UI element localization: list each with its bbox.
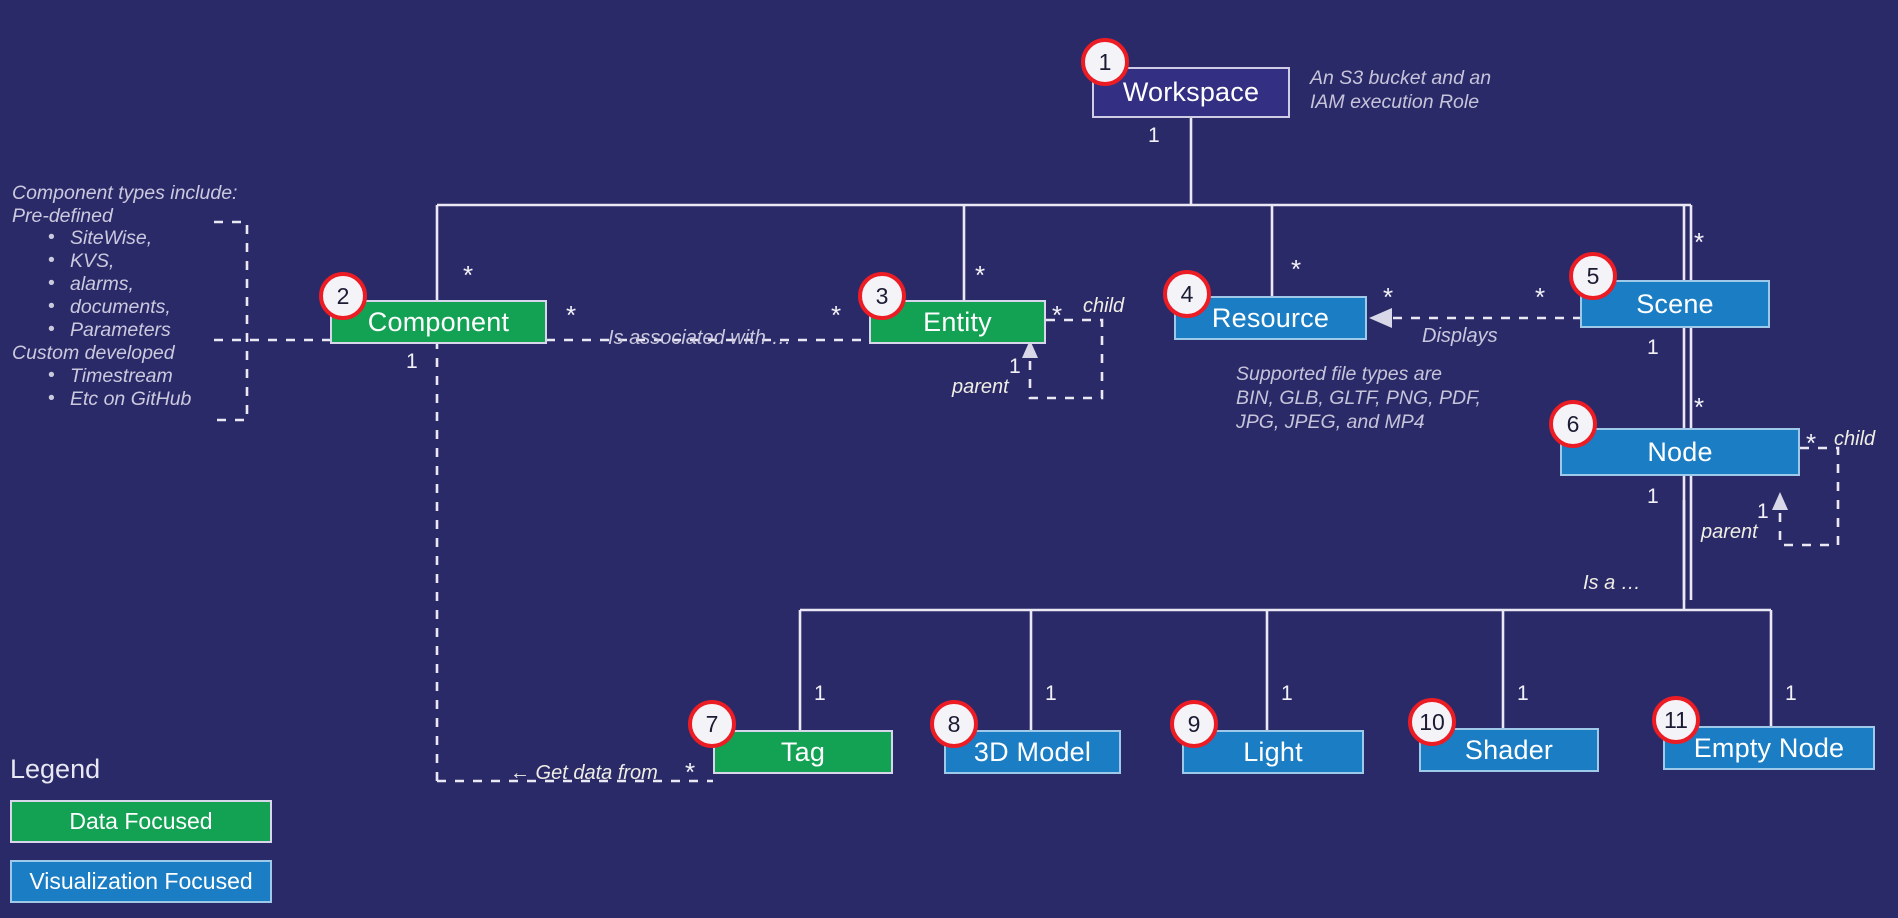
badge-10-label: 10 bbox=[1419, 709, 1445, 736]
mult-entity-parent: 1 bbox=[1009, 355, 1021, 379]
label-node-child: child bbox=[1834, 428, 1875, 451]
badge-4-label: 4 bbox=[1181, 281, 1194, 308]
node-tag-label: Tag bbox=[781, 737, 825, 768]
mult-tag-up: 1 bbox=[814, 682, 826, 706]
node-node-label: Node bbox=[1647, 437, 1712, 468]
badge-1[interactable]: 1 bbox=[1081, 38, 1129, 86]
mult-resource-up: * bbox=[1291, 262, 1301, 276]
badge-9[interactable]: 9 bbox=[1170, 700, 1218, 748]
mult-tag-getdata: * bbox=[685, 765, 695, 779]
badge-3[interactable]: 3 bbox=[858, 272, 906, 320]
mult-resource-displays-in: * bbox=[1383, 290, 1393, 304]
badge-3-label: 3 bbox=[876, 283, 889, 310]
note-component-predefined-item: KVS, bbox=[70, 250, 237, 273]
note-component-predefined-item: documents, bbox=[70, 296, 237, 319]
mult-component-down: 1 bbox=[406, 350, 418, 374]
label-is-associated-with: Is associated with … bbox=[608, 327, 791, 350]
node-3d-model-label: 3D Model bbox=[974, 737, 1091, 768]
node-empty-node-label: Empty Node bbox=[1694, 733, 1845, 764]
mult-node-up: * bbox=[1694, 400, 1704, 414]
note-component-heading1: Component types include: bbox=[12, 182, 237, 205]
note-component-predefined-list: SiteWise, KVS, alarms, documents, Parame… bbox=[12, 227, 237, 342]
node-tag[interactable]: Tag bbox=[713, 730, 893, 774]
mult-entity-up: * bbox=[975, 268, 985, 282]
node-entity-label: Entity bbox=[923, 307, 992, 338]
note-component-heading3: Custom developed bbox=[12, 342, 237, 365]
mult-light-up: 1 bbox=[1281, 682, 1293, 706]
badge-9-label: 9 bbox=[1188, 711, 1201, 738]
label-displays: Displays bbox=[1422, 325, 1498, 348]
mult-empty-up: 1 bbox=[1785, 682, 1797, 706]
badge-2[interactable]: 2 bbox=[319, 272, 367, 320]
mult-scene-displays-out: * bbox=[1535, 290, 1545, 304]
node-workspace-label: Workspace bbox=[1123, 77, 1259, 108]
badge-1-label: 1 bbox=[1099, 49, 1112, 76]
label-is-a: Is a … bbox=[1583, 572, 1641, 595]
node-component-label: Component bbox=[368, 307, 509, 338]
badge-5[interactable]: 5 bbox=[1569, 252, 1617, 300]
note-component-heading2: Pre-defined bbox=[12, 205, 237, 228]
badge-11-label: 11 bbox=[1664, 707, 1688, 734]
badge-6[interactable]: 6 bbox=[1549, 400, 1597, 448]
badge-10[interactable]: 10 bbox=[1408, 698, 1456, 746]
mult-component-up: * bbox=[463, 268, 473, 282]
legend-item-data-focused-label: Data Focused bbox=[69, 808, 212, 835]
mult-node-parent: 1 bbox=[1757, 500, 1769, 524]
badge-2-label: 2 bbox=[337, 283, 350, 310]
legend-item-visualization-focused-label: Visualization Focused bbox=[29, 868, 252, 895]
badge-7[interactable]: 7 bbox=[688, 700, 736, 748]
legend-item-data-focused: Data Focused bbox=[10, 800, 272, 843]
node-light-label: Light bbox=[1243, 737, 1303, 768]
badge-7-label: 7 bbox=[706, 711, 719, 738]
note-component: Component types include: Pre-defined Sit… bbox=[12, 182, 237, 411]
mult-scene-up: * bbox=[1694, 235, 1704, 249]
badge-11[interactable]: 11 bbox=[1652, 696, 1700, 744]
mult-workspace-down: 1 bbox=[1148, 124, 1160, 148]
badge-4[interactable]: 4 bbox=[1163, 270, 1211, 318]
note-component-custom-item: Timestream bbox=[70, 365, 237, 388]
note-resource: Supported file types are BIN, GLB, GLTF,… bbox=[1236, 362, 1481, 434]
badge-8[interactable]: 8 bbox=[930, 700, 978, 748]
badge-6-label: 6 bbox=[1567, 411, 1580, 438]
label-entity-parent: parent bbox=[952, 376, 1009, 399]
note-component-predefined-item: SiteWise, bbox=[70, 227, 237, 250]
mult-entity-child: * bbox=[1052, 308, 1062, 322]
label-get-data-from: ← Get data from bbox=[510, 762, 658, 785]
node-scene-label: Scene bbox=[1636, 289, 1714, 320]
label-entity-child: child bbox=[1083, 295, 1124, 318]
mult-model-up: 1 bbox=[1045, 682, 1057, 706]
mult-node-down: 1 bbox=[1647, 485, 1659, 509]
mult-entity-left: * bbox=[831, 308, 841, 322]
node-resource-label: Resource bbox=[1212, 303, 1329, 334]
label-node-parent: parent bbox=[1701, 521, 1758, 544]
badge-8-label: 8 bbox=[948, 711, 961, 738]
legend-title: Legend bbox=[10, 754, 100, 785]
node-node[interactable]: Node bbox=[1560, 428, 1800, 476]
note-component-predefined-item: Parameters bbox=[70, 319, 237, 342]
note-component-custom-item: Etc on GitHub bbox=[70, 388, 237, 411]
note-workspace: An S3 bucket and an IAM execution Role bbox=[1310, 66, 1491, 114]
mult-node-child: * bbox=[1806, 436, 1816, 450]
mult-scene-down: 1 bbox=[1647, 336, 1659, 360]
diagram-canvas: Workspace Component Entity Resource Scen… bbox=[0, 0, 1898, 918]
badge-5-label: 5 bbox=[1587, 263, 1600, 290]
legend-item-visualization-focused: Visualization Focused bbox=[10, 860, 272, 903]
note-component-custom-list: Timestream Etc on GitHub bbox=[12, 365, 237, 411]
mult-shader-up: 1 bbox=[1517, 682, 1529, 706]
mult-component-right: * bbox=[566, 308, 576, 322]
note-component-predefined-item: alarms, bbox=[70, 273, 237, 296]
arrowhead-node-parent bbox=[1772, 492, 1788, 510]
node-shader-label: Shader bbox=[1465, 735, 1553, 766]
